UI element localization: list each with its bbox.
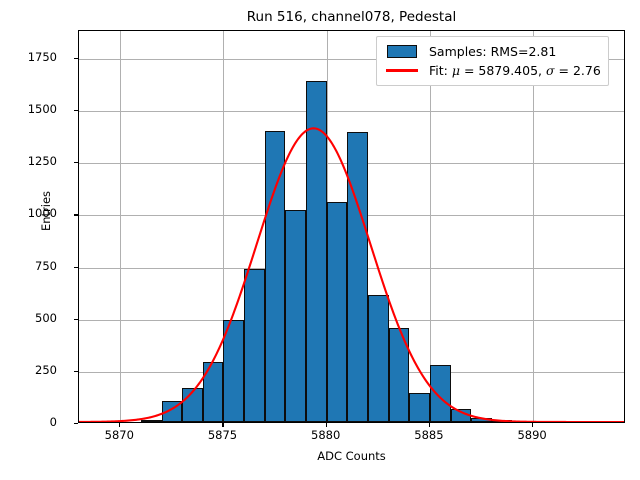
legend-line-icon — [384, 63, 420, 79]
x-tick-mark — [429, 423, 430, 427]
x-tick-label: 5880 — [296, 428, 356, 442]
y-tick-mark — [74, 423, 78, 424]
y-tick-label: 1500 — [7, 102, 57, 116]
y-tick-mark — [74, 58, 78, 59]
y-tick-mark — [74, 267, 78, 268]
y-tick-mark — [74, 319, 78, 320]
x-tick-mark — [119, 423, 120, 427]
y-tick-label: 500 — [7, 311, 57, 325]
pedestal-histogram-figure: Run 516, channel078, Pedestal 0250500750… — [0, 0, 640, 480]
fit-mu-value: 5879.405 — [478, 63, 538, 78]
y-tick-label: 0 — [7, 415, 57, 429]
legend-label-fit: Fit: μ = 5879.405, σ = 2.76 — [429, 63, 601, 78]
legend-item-fit: Fit: μ = 5879.405, σ = 2.76 — [384, 61, 601, 80]
legend: Samples: RMS=2.81 Fit: μ = 5879.405, σ =… — [376, 36, 609, 86]
y-tick-mark — [74, 371, 78, 372]
x-tick-mark — [222, 423, 223, 427]
x-tick-label: 5885 — [399, 428, 459, 442]
x-tick-label: 5890 — [502, 428, 562, 442]
legend-item-samples: Samples: RMS=2.81 — [384, 42, 601, 61]
y-tick-mark — [74, 162, 78, 163]
x-tick-label: 5875 — [192, 428, 252, 442]
gaussian-fit-curve — [79, 31, 624, 422]
plot-area — [78, 30, 625, 423]
x-tick-label: 5870 — [89, 428, 149, 442]
legend-swatch-icon — [384, 44, 420, 60]
y-tick-mark — [74, 110, 78, 111]
y-tick-label: 1750 — [7, 50, 57, 64]
x-tick-mark — [326, 423, 327, 427]
legend-label-samples: Samples: RMS=2.81 — [429, 44, 556, 59]
y-tick-mark — [74, 214, 78, 215]
y-tick-label: 250 — [7, 363, 57, 377]
chart-title: Run 516, channel078, Pedestal — [78, 9, 625, 25]
x-axis-label: ADC Counts — [78, 449, 625, 463]
y-axis-label: Entries — [39, 151, 53, 271]
fit-sigma-value: 2.76 — [573, 63, 601, 78]
x-tick-mark — [532, 423, 533, 427]
